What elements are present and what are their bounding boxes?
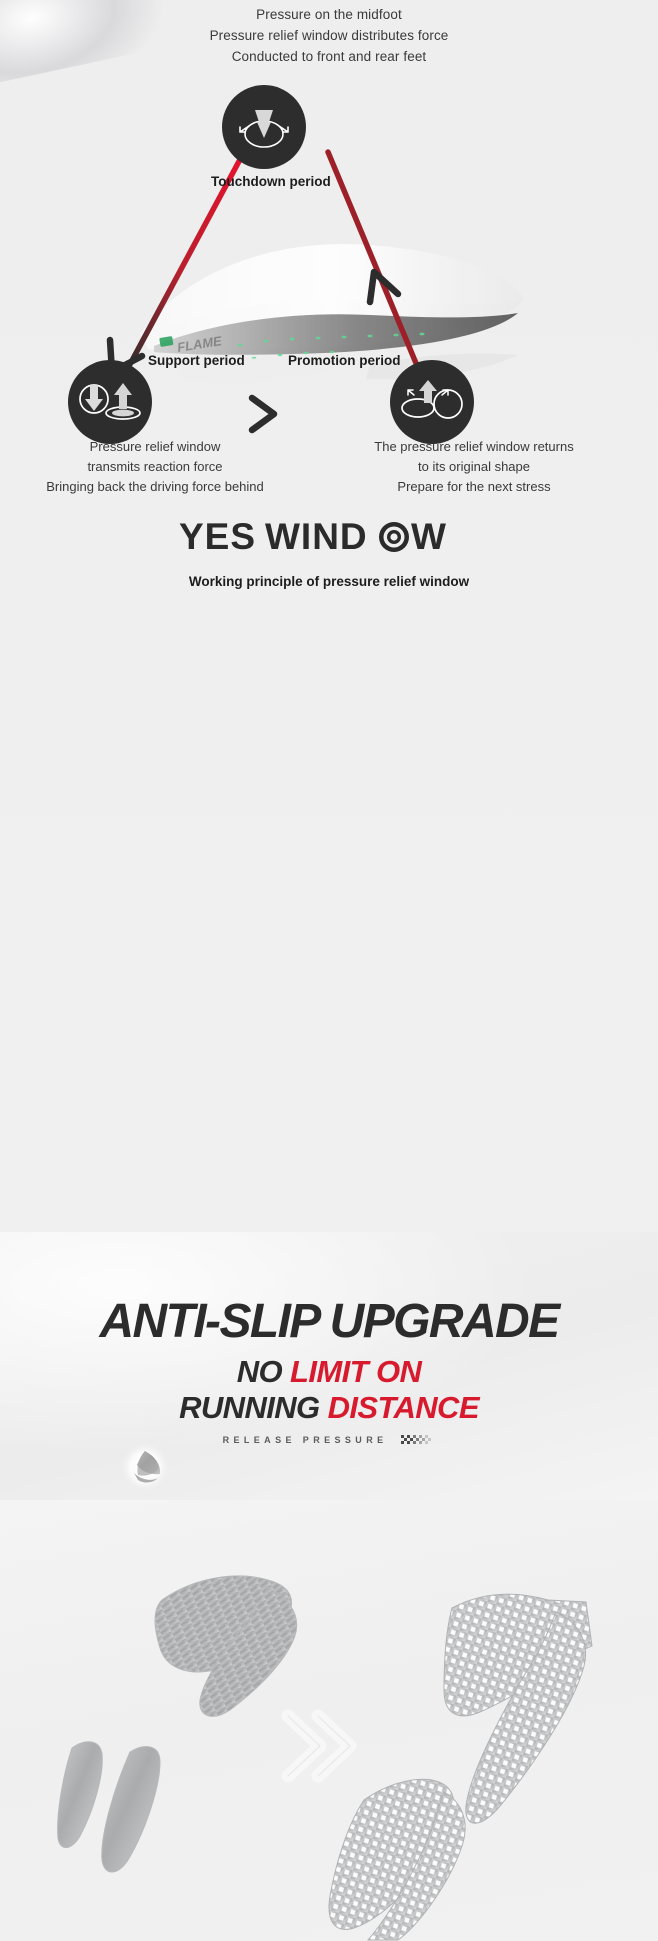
anti-slip-tagline-row: RELEASE PRESSURE [0,1435,658,1446]
cycle-node-support [68,360,152,444]
cycle-caption-promotion: The pressure relief window returns to it… [300,437,648,497]
pressure-cycle-section: Pressure on the midfoot Pressure relief … [0,0,658,620]
anti-slip-headline: ANTI-SLIP UPGRADE [0,1294,658,1349]
support-line-3: Bringing back the driving force behind [10,477,300,497]
svg-text:W: W [411,516,447,557]
anti-slip-section: ANTI-SLIP UPGRADE NO LIMIT ON RUNNING DI… [0,1232,658,1502]
anti-slip-subline-2: RUNNING DISTANCE [0,1390,658,1426]
window-compress-rebound-icon [77,377,143,427]
cycle-caption-support: Pressure relief window transmits reactio… [10,437,300,497]
anti-slip-subline-1: NO LIMIT ON [0,1354,658,1390]
promotion-line-1: The pressure relief window returns [300,437,648,457]
stage-label-support: Support period [148,353,245,368]
yes-window-wordmark-icon: YES WIND W [179,516,479,560]
product-infographic-page: Pressure on the midfoot Pressure relief … [0,0,658,1941]
support-line-1: Pressure relief window [10,437,300,457]
outsole-comparison-section [0,1500,658,1941]
old-outsole-group [58,1576,297,1872]
promotion-line-2: to its original shape [300,457,648,477]
subline-2-dark: RUNNING [179,1390,327,1425]
yes-triangle-emblem-icon [120,1442,170,1492]
support-line-2: transmits reaction force [10,457,300,477]
cycle-node-promotion [390,360,474,444]
svg-text:YES: YES [179,516,256,557]
subline-1-red: LIMIT ON [290,1354,421,1389]
anti-slip-tagline: RELEASE PRESSURE [223,1435,388,1445]
window-restore-icon [398,377,466,427]
subline-2-red: DISTANCE [328,1390,479,1425]
stage-label-touchdown: Touchdown period [211,174,331,189]
subline-1-dark: NO [237,1354,290,1389]
stage-label-promotion: Promotion period [288,353,401,368]
upgraded-outsole-group [329,1594,592,1940]
brand-subtitle: Working principle of pressure relief win… [0,574,658,589]
svg-text:WIND: WIND [265,516,368,557]
cycle-node-touchdown [222,85,306,169]
promotion-line-3: Prepare for the next stress [300,477,648,497]
outsole-parts-illustration [0,1500,658,1941]
down-arrow-into-window-icon [233,96,295,158]
double-chevron-right-icon [288,1716,350,1776]
brand-lockup: YES WIND W Working principle of pressure… [0,516,658,589]
checkered-flag-icon [401,1435,435,1446]
